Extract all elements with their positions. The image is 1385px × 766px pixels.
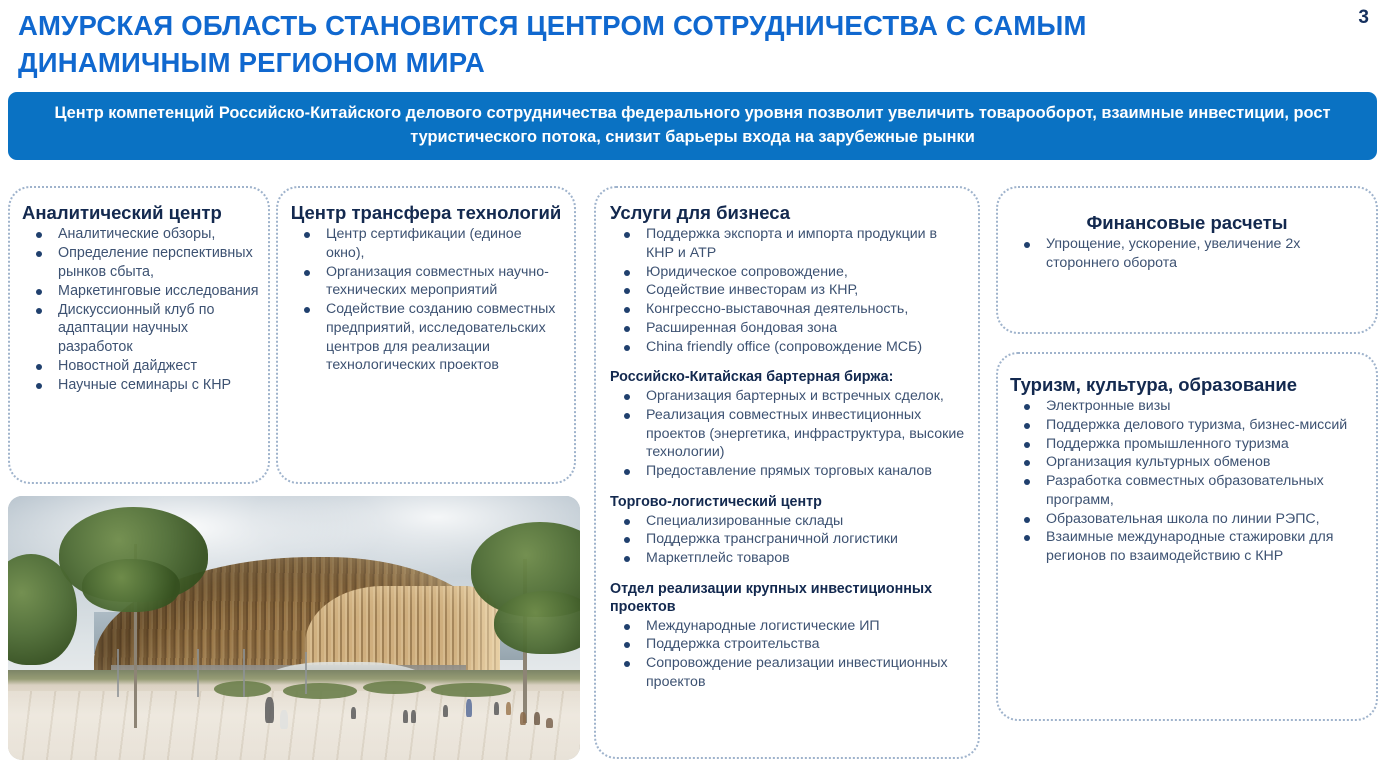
list-item: Международные логистические ИП <box>610 617 968 636</box>
list-item: Определение перспективных рынков сбыта, <box>22 244 260 282</box>
person <box>443 705 448 717</box>
lamp-post <box>197 649 199 697</box>
list-item: Поддержка экспорта и импорта продукции в… <box>610 225 968 262</box>
banner-text: Центр компетенций Российско-Китайского д… <box>30 102 1355 150</box>
person <box>280 710 288 729</box>
section-title-major-projects: Отдел реализации крупных инвестиционных … <box>610 581 968 617</box>
logistics-list: Специализированные склады Поддержка тран… <box>610 512 968 568</box>
person <box>466 699 472 717</box>
list-item: Специализированные склады <box>610 512 968 531</box>
page-number: 3 <box>1358 7 1369 29</box>
list-item: Поддержка трансграничной логистики <box>610 530 968 549</box>
building-render-photo <box>8 496 580 760</box>
list-item: Образовательная школа по линии РЭПС, <box>1010 510 1364 529</box>
list-item: Маркетинговые исследования <box>22 282 260 301</box>
tree-right-lower <box>494 591 580 654</box>
services-list: Поддержка экспорта и импорта продукции в… <box>610 225 968 356</box>
card-title: Финансовые расчеты <box>1010 212 1364 234</box>
transfer-list: Центр сертификации (единое окно), Органи… <box>290 225 562 375</box>
list-item: Аналитические обзоры, <box>22 225 260 244</box>
person <box>520 712 526 725</box>
list-item: Предоставление прямых торговых каналов <box>610 462 968 481</box>
list-item: Содействие созданию совместных предприят… <box>290 300 562 375</box>
list-item: Организация бартерных и встречных сделок… <box>610 387 968 406</box>
lamp-post <box>305 652 307 694</box>
card-title: Туризм, культура, образование <box>1010 374 1364 396</box>
highlight-banner: Центр компетенций Российско-Китайского д… <box>8 92 1377 160</box>
card-title: Услуги для бизнеса <box>610 202 968 224</box>
person <box>546 718 553 728</box>
major-projects-list: Международные логистические ИП Поддержка… <box>610 617 968 692</box>
list-item: Организация совместных научно-технически… <box>290 263 562 300</box>
list-item: Научные семинары с КНР <box>22 376 260 395</box>
person <box>411 710 416 723</box>
shrub <box>431 683 511 696</box>
spacer <box>610 568 968 581</box>
analytics-list: Аналитические обзоры, Определение перспе… <box>22 225 260 395</box>
list-item: Организация культурных обменов <box>1010 453 1364 472</box>
list-item: Поддержка строительства <box>610 635 968 654</box>
person <box>351 707 356 719</box>
person <box>265 697 274 723</box>
card-business-services[interactable]: Услуги для бизнеса Поддержка экспорта и … <box>594 186 980 759</box>
slide: АМУРСКАЯ ОБЛАСТЬ СТАНОВИТСЯ ЦЕНТРОМ СОТР… <box>0 0 1385 766</box>
list-item: Центр сертификации (единое окно), <box>290 225 562 262</box>
card-title: Аналитический центр <box>22 202 260 224</box>
list-item: Реализация совместных инвестиционных про… <box>610 406 968 462</box>
tree-left-lower <box>82 559 179 612</box>
list-item: Электронные визы <box>1010 397 1364 416</box>
card-analytical-center[interactable]: Аналитический центр Аналитические обзоры… <box>8 186 270 484</box>
card-financial-settlements[interactable]: Финансовые расчеты Упрощение, ускорение,… <box>996 186 1378 334</box>
list-item: Конгрессно-выставочная деятельность, <box>610 300 968 319</box>
list-item: China friendly office (сопровождение МСБ… <box>610 338 968 357</box>
list-item: Поддержка делового туризма, бизнес-мисси… <box>1010 416 1364 435</box>
shrub <box>363 681 426 694</box>
spacer <box>610 356 968 369</box>
person <box>506 702 511 715</box>
lamp-post <box>117 649 119 697</box>
list-item: Дискуссионный клуб по адаптации научных … <box>22 301 260 358</box>
list-item: Расширенная бондовая зона <box>610 319 968 338</box>
spacer <box>610 481 968 494</box>
list-item: Юридическое сопровождение, <box>610 263 968 282</box>
list-item: Сопровождение реализации инвестиционных … <box>610 654 968 691</box>
lamp-post <box>243 649 245 697</box>
page-title: АМУРСКАЯ ОБЛАСТЬ СТАНОВИТСЯ ЦЕНТРОМ СОТР… <box>18 8 1298 81</box>
list-item: Упрощение, ускорение, увеличение 2х стор… <box>1010 235 1364 272</box>
list-item: Взаимные международные стажировки для ре… <box>1010 528 1364 565</box>
card-title: Центр трансфера технологий <box>290 202 562 224</box>
list-item: Новостной дайджест <box>22 357 260 376</box>
person <box>534 712 540 725</box>
section-title-logistics-center: Торгово-логистический центр <box>610 494 968 512</box>
section-title-barter-exchange: Российско-Китайская бартерная биржа: <box>610 369 968 387</box>
list-item: Разработка совместных образовательных пр… <box>1010 472 1364 509</box>
person <box>494 702 499 715</box>
list-item: Поддержка промышленного туризма <box>1010 435 1364 454</box>
finance-list: Упрощение, ускорение, увеличение 2х стор… <box>1010 235 1364 272</box>
card-technology-transfer-center[interactable]: Центр трансфера технологий Центр сертифи… <box>276 186 576 484</box>
barter-list: Организация бартерных и встречных сделок… <box>610 387 968 481</box>
card-tourism-culture-education[interactable]: Туризм, культура, образование Электронны… <box>996 352 1378 721</box>
list-item: Содействие инвесторам из КНР, <box>610 281 968 300</box>
person <box>403 710 408 723</box>
list-item: Маркетплейс товаров <box>610 549 968 568</box>
tourism-list: Электронные визы Поддержка делового тури… <box>1010 397 1364 566</box>
